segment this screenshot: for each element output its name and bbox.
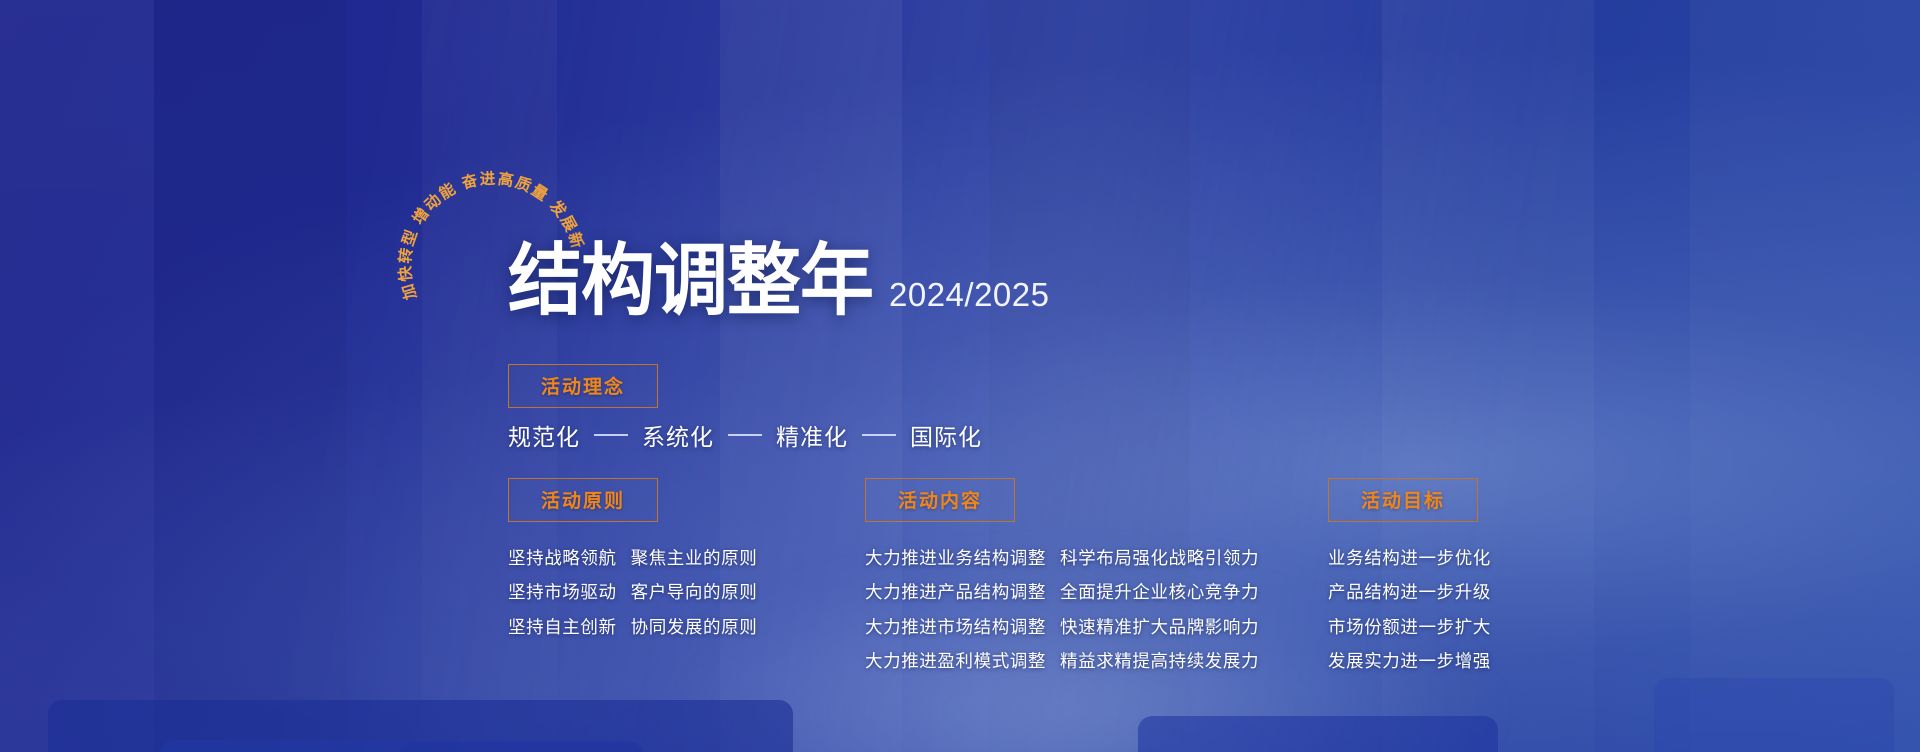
title-block: 结构调整年 2024/2025	[508, 246, 1050, 320]
list-item-part-a: 坚持市场驱动	[508, 578, 617, 606]
list-item-part-b: 全面提升企业核心竞争力	[1060, 578, 1259, 606]
list-item-part-a: 产品结构进一步升级	[1328, 582, 1491, 602]
background-band	[0, 0, 154, 752]
list-item-part-b: 协同发展的原则	[631, 613, 758, 641]
concept-separator-icon	[728, 434, 762, 436]
concept-item: 规范化	[508, 418, 580, 452]
contents-rows: 大力推进业务结构调整 科学布局强化战略引领力 大力推进产品结构调整 全面提升企业…	[865, 544, 1259, 675]
section-principles: 活动原则 坚持战略领航 聚焦主业的原则 坚持市场驱动 客户导向的原则 坚持自主创…	[508, 478, 757, 641]
background-band	[1690, 0, 1920, 752]
list-item-part-a: 发展实力进一步增强	[1328, 651, 1491, 671]
list-item-part-b: 精益求精提高持续发展力	[1060, 647, 1259, 675]
badge-goals[interactable]: 活动目标	[1328, 478, 1478, 522]
promo-banner: 加快转型 增动能 奋进高质量 发展新征程 结构调整年 2024/2025 活动理…	[0, 0, 1920, 752]
list-item: 市场份额进一步扩大	[1328, 613, 1491, 641]
concept-separator-icon	[594, 434, 628, 436]
badge-holder: 活动目标	[1328, 478, 1491, 522]
background-band	[154, 0, 346, 752]
section-contents: 活动内容 大力推进业务结构调整 科学布局强化战略引领力 大力推进产品结构调整 全…	[865, 478, 1259, 675]
badge-concept[interactable]: 活动理念	[508, 364, 658, 408]
list-item-part-a: 坚持自主创新	[508, 613, 617, 641]
decorative-rounded-rect	[1138, 716, 1498, 752]
concept-item: 精准化	[776, 418, 848, 452]
concept-badge-wrap: 活动理念	[508, 364, 658, 408]
concept-item: 国际化	[910, 418, 982, 452]
list-item: 坚持战略领航 聚焦主业的原则	[508, 544, 757, 572]
concept-separator-icon	[862, 434, 896, 436]
decorative-rounded-rect	[400, 742, 645, 752]
badge-holder: 活动内容	[865, 478, 1259, 522]
list-item: 大力推进市场结构调整 快速精准扩大品牌影响力	[865, 613, 1259, 641]
list-item: 坚持市场驱动 客户导向的原则	[508, 578, 757, 606]
list-item-part-b: 聚焦主业的原则	[631, 544, 758, 572]
list-item-part-a: 大力推进产品结构调整	[865, 578, 1046, 606]
list-item-part-a: 大力推进市场结构调整	[865, 613, 1046, 641]
badge-principles[interactable]: 活动原则	[508, 478, 658, 522]
badge-holder: 活动原则	[508, 478, 757, 522]
list-item: 大力推进业务结构调整 科学布局强化战略引领力	[865, 544, 1259, 572]
list-item: 业务结构进一步优化	[1328, 544, 1491, 572]
list-item-part-a: 大力推进业务结构调整	[865, 544, 1046, 572]
list-item-part-a: 大力推进盈利模式调整	[865, 647, 1046, 675]
list-item-part-a: 市场份额进一步扩大	[1328, 617, 1491, 637]
list-item-part-a: 坚持战略领航	[508, 544, 617, 572]
badge-contents[interactable]: 活动内容	[865, 478, 1015, 522]
list-item-part-a: 业务结构进一步优化	[1328, 548, 1491, 568]
list-item: 坚持自主创新 协同发展的原则	[508, 613, 757, 641]
decorative-rounded-rect	[160, 740, 640, 752]
principles-rows: 坚持战略领航 聚焦主业的原则 坚持市场驱动 客户导向的原则 坚持自主创新 协同发…	[508, 544, 757, 641]
list-item: 大力推进产品结构调整 全面提升企业核心竞争力	[865, 578, 1259, 606]
concept-item: 系统化	[642, 418, 714, 452]
decorative-rounded-rect	[1654, 678, 1894, 752]
decorative-rounded-rect	[48, 700, 793, 752]
list-item-part-b: 客户导向的原则	[631, 578, 758, 606]
list-item: 产品结构进一步升级	[1328, 578, 1491, 606]
list-item-part-b: 快速精准扩大品牌影响力	[1060, 613, 1259, 641]
list-item: 大力推进盈利模式调整 精益求精提高持续发展力	[865, 647, 1259, 675]
list-item-part-b: 科学布局强化战略引领力	[1060, 544, 1259, 572]
section-goals: 活动目标 业务结构进一步优化 产品结构进一步升级 市场份额进一步扩大 发展实力进…	[1328, 478, 1491, 675]
goals-rows: 业务结构进一步优化 产品结构进一步升级 市场份额进一步扩大 发展实力进一步增强	[1328, 544, 1491, 675]
concept-list: 规范化 系统化 精准化 国际化	[508, 418, 982, 452]
list-item: 发展实力进一步增强	[1328, 647, 1491, 675]
title-year: 2024/2025	[889, 276, 1050, 320]
page-title: 结构调整年	[508, 242, 873, 320]
